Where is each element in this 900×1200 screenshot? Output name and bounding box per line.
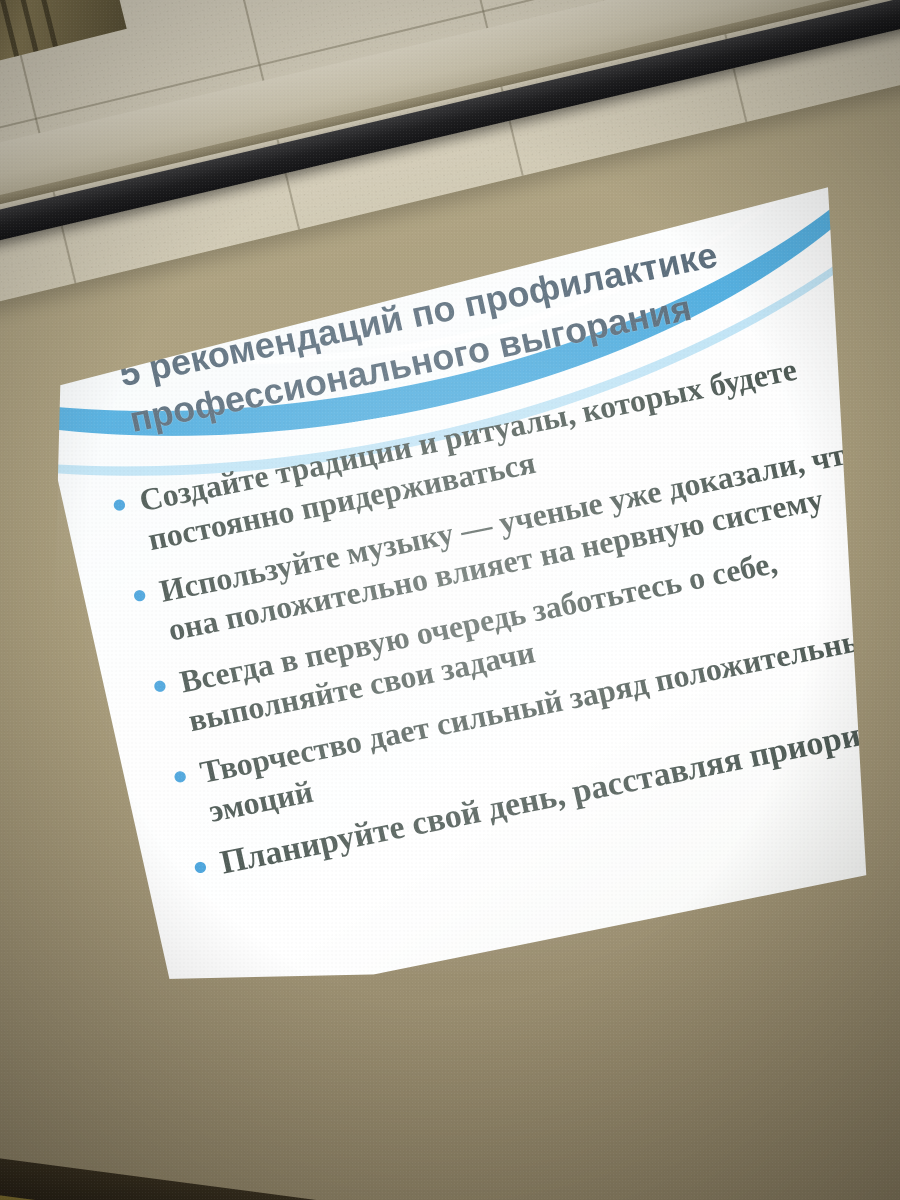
photo-canvas: 5 рекомендаций по профилактике профессио…	[0, 0, 900, 1200]
